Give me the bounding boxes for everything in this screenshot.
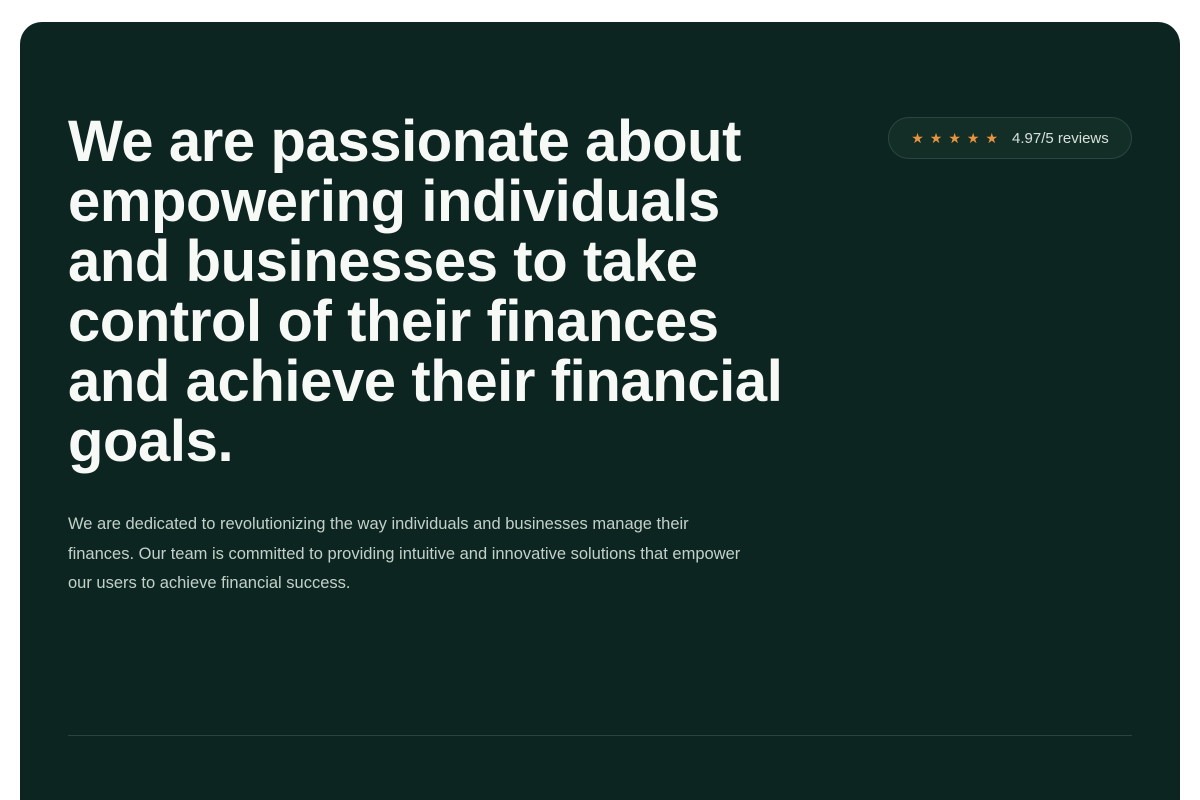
hero-panel: We are passionate about empowering indiv… <box>20 22 1180 800</box>
section-divider <box>68 735 1132 736</box>
star-icon: ★ <box>985 131 998 145</box>
star-icon: ★ <box>948 131 961 145</box>
hero-description: We are dedicated to revolutionizing the … <box>68 510 748 599</box>
star-icon: ★ <box>911 131 924 145</box>
star-icon: ★ <box>967 131 980 145</box>
page-root: We are passionate about empowering indiv… <box>0 0 1200 800</box>
hero-content: We are passionate about empowering indiv… <box>68 112 1132 599</box>
page-title: We are passionate about empowering indiv… <box>68 112 788 472</box>
star-icon: ★ <box>930 131 943 145</box>
star-rating: ★ ★ ★ ★ ★ <box>911 131 998 145</box>
rating-label: 4.97/5 reviews <box>1012 131 1109 146</box>
rating-badge[interactable]: ★ ★ ★ ★ ★ 4.97/5 reviews <box>888 117 1132 159</box>
